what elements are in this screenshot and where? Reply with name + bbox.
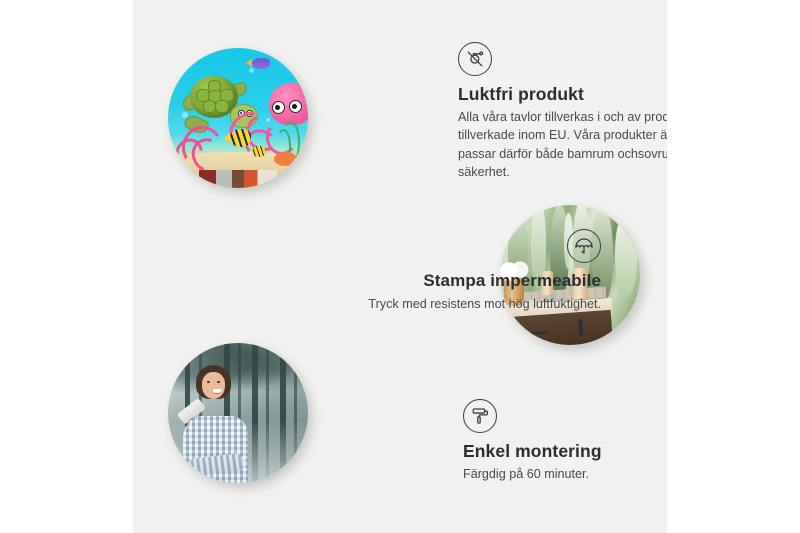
paint-roller-icon — [463, 399, 497, 433]
feature-description: Färgdig på 60 minuter. — [463, 465, 667, 483]
umbrella-icon — [567, 229, 601, 263]
feature-title: Stampa impermeabile — [329, 271, 601, 291]
feature-title: Luktfri produkt — [458, 84, 667, 104]
feature-description: Alla våra tavlor tillverkas i och av pro… — [458, 108, 667, 181]
feature-title: Enkel montering — [463, 441, 667, 461]
feature-odorless: Luktfri produkt Alla våra tavlor tillver… — [458, 42, 667, 181]
underwater-cartoon-mural-photo — [168, 48, 308, 188]
feature-assembly: Enkel montering Färgdig på 60 minuter. — [463, 399, 667, 483]
content-panel: Luktfri produkt Alla våra tavlor tillver… — [133, 0, 667, 533]
no-fragrance-icon — [458, 42, 492, 76]
installer-woman-forest-mural-photo — [168, 343, 308, 483]
feature-waterproof: Stampa impermeabile Tryck med resistens … — [329, 229, 601, 313]
infographic-stage: Luktfri produkt Alla våra tavlor tillver… — [0, 0, 800, 533]
feature-description: Tryck med resistens mot hög luftfuktighe… — [329, 295, 601, 313]
